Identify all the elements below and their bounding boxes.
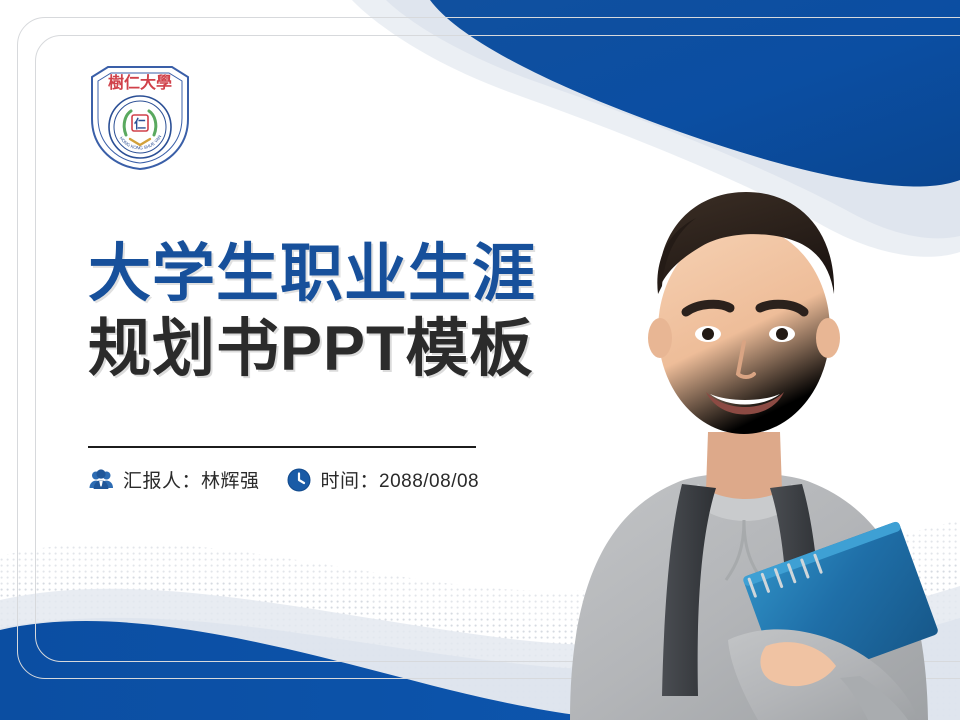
- logo-center-glyph: 仁: [134, 116, 146, 131]
- presenter-item: 汇报人：林辉强: [88, 466, 260, 493]
- page-title: 大学生职业生涯 规划书PPT模板: [88, 243, 558, 381]
- people-group-icon: [88, 467, 114, 493]
- title-divider: [88, 446, 476, 448]
- date-label: 时间：2088/08/08: [321, 466, 480, 493]
- title-line-primary: 大学生职业生涯: [88, 243, 558, 306]
- student-portrait: [530, 80, 960, 720]
- university-logo: 樹仁大學 仁 HONG KONG SHUE YAN UNIVERSITY: [84, 57, 196, 173]
- slide-canvas: 樹仁大學 仁 HONG KONG SHUE YAN UNIVERSITY: [0, 0, 960, 720]
- meta-row: 汇报人：林辉强 时间：2088/08/08: [88, 466, 479, 493]
- logo-name-text: 樹仁大學: [108, 73, 172, 92]
- clock-icon: [286, 467, 312, 493]
- title-line-secondary: 规划书PPT模板: [88, 318, 558, 381]
- date-item: 时间：2088/08/08: [286, 466, 480, 493]
- presenter-label: 汇报人：林辉强: [123, 466, 260, 493]
